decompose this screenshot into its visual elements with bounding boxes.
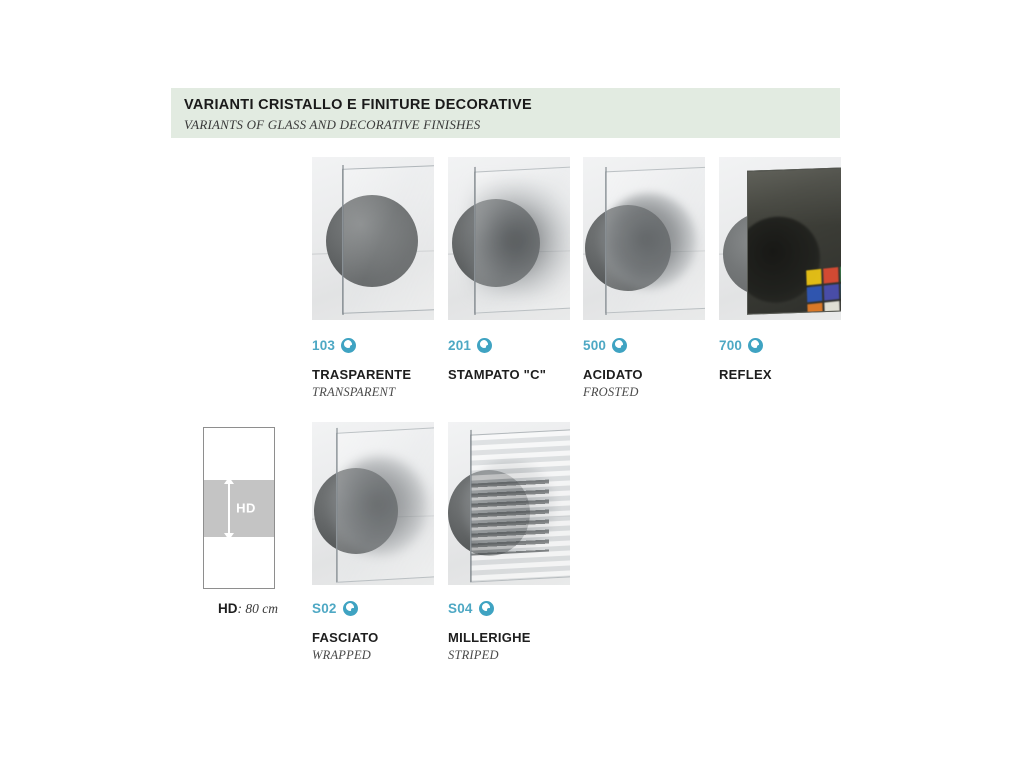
glass-drop-icon xyxy=(612,338,627,353)
sample-code: S04 xyxy=(448,601,473,616)
glass-edge xyxy=(470,430,472,582)
glass-edge xyxy=(474,167,476,315)
section-header-band: VARIANTI CRISTALLO E FINITURE DECORATIVE… xyxy=(171,88,840,138)
sample-name-it: MILLERIGHE xyxy=(448,630,608,645)
hd-caption-key: HD xyxy=(218,601,238,616)
sample-image-201 xyxy=(448,157,570,320)
sample-name-it: REFLEX xyxy=(719,367,879,382)
checker-swatch xyxy=(823,267,839,284)
code-row: 700 xyxy=(719,336,879,354)
sample-code: 103 xyxy=(312,338,335,353)
color-checker-reflection xyxy=(806,265,841,314)
sample-name-en: STRIPED xyxy=(448,648,608,663)
sample-name-en: TRANSPARENT xyxy=(312,385,472,400)
sample-image-700 xyxy=(719,157,841,320)
glass-edge xyxy=(605,167,607,315)
smoked-mirror-pane xyxy=(747,167,841,314)
hd-dimension-diagram: HD xyxy=(203,427,275,589)
checker-swatch xyxy=(807,286,823,303)
page-title: VARIANTI CRISTALLO E FINITURE DECORATIVE xyxy=(184,97,840,114)
sample-code: 700 xyxy=(719,338,742,353)
sample-image-S04 xyxy=(448,422,570,585)
diffused-sphere xyxy=(470,179,570,297)
checker-swatch xyxy=(840,265,841,282)
sample-code: S02 xyxy=(312,601,337,616)
sample-code: 201 xyxy=(448,338,471,353)
hd-caption: HD: 80 cm xyxy=(188,600,308,618)
sample-caption-700: 700 REFLEX xyxy=(719,336,879,385)
sample-code: 500 xyxy=(583,338,606,353)
checker-swatch xyxy=(806,269,822,286)
sample-image-103 xyxy=(312,157,434,320)
code-row: S04 xyxy=(448,599,608,617)
glass-drop-icon xyxy=(479,601,494,616)
hd-caption-value: : 80 cm xyxy=(238,601,279,616)
checker-swatch xyxy=(824,284,840,301)
diffused-sphere xyxy=(601,193,697,289)
glass-drop-icon xyxy=(341,338,356,353)
sample-image-500 xyxy=(583,157,705,320)
glass-drop-icon xyxy=(748,338,763,353)
glass-drop-icon xyxy=(343,601,358,616)
striped-glass-pane xyxy=(470,429,570,582)
stripe-distortion xyxy=(471,480,549,556)
glass-edge xyxy=(336,428,338,582)
sample-name-en: FROSTED xyxy=(583,385,743,400)
glass-edge xyxy=(342,165,344,315)
glass-pane xyxy=(342,165,434,314)
catalog-page: VARIANTI CRISTALLO E FINITURE DECORATIVE… xyxy=(0,0,1024,768)
hd-band-label: HD xyxy=(204,501,274,516)
sample-image-S02 xyxy=(312,422,434,585)
sample-caption-S04: S04 MILLERIGHE STRIPED xyxy=(448,599,608,663)
diffused-sphere xyxy=(332,456,428,556)
page-subtitle: VARIANTS OF GLASS AND DECORATIVE FINISHE… xyxy=(184,116,840,133)
glass-drop-icon xyxy=(477,338,492,353)
